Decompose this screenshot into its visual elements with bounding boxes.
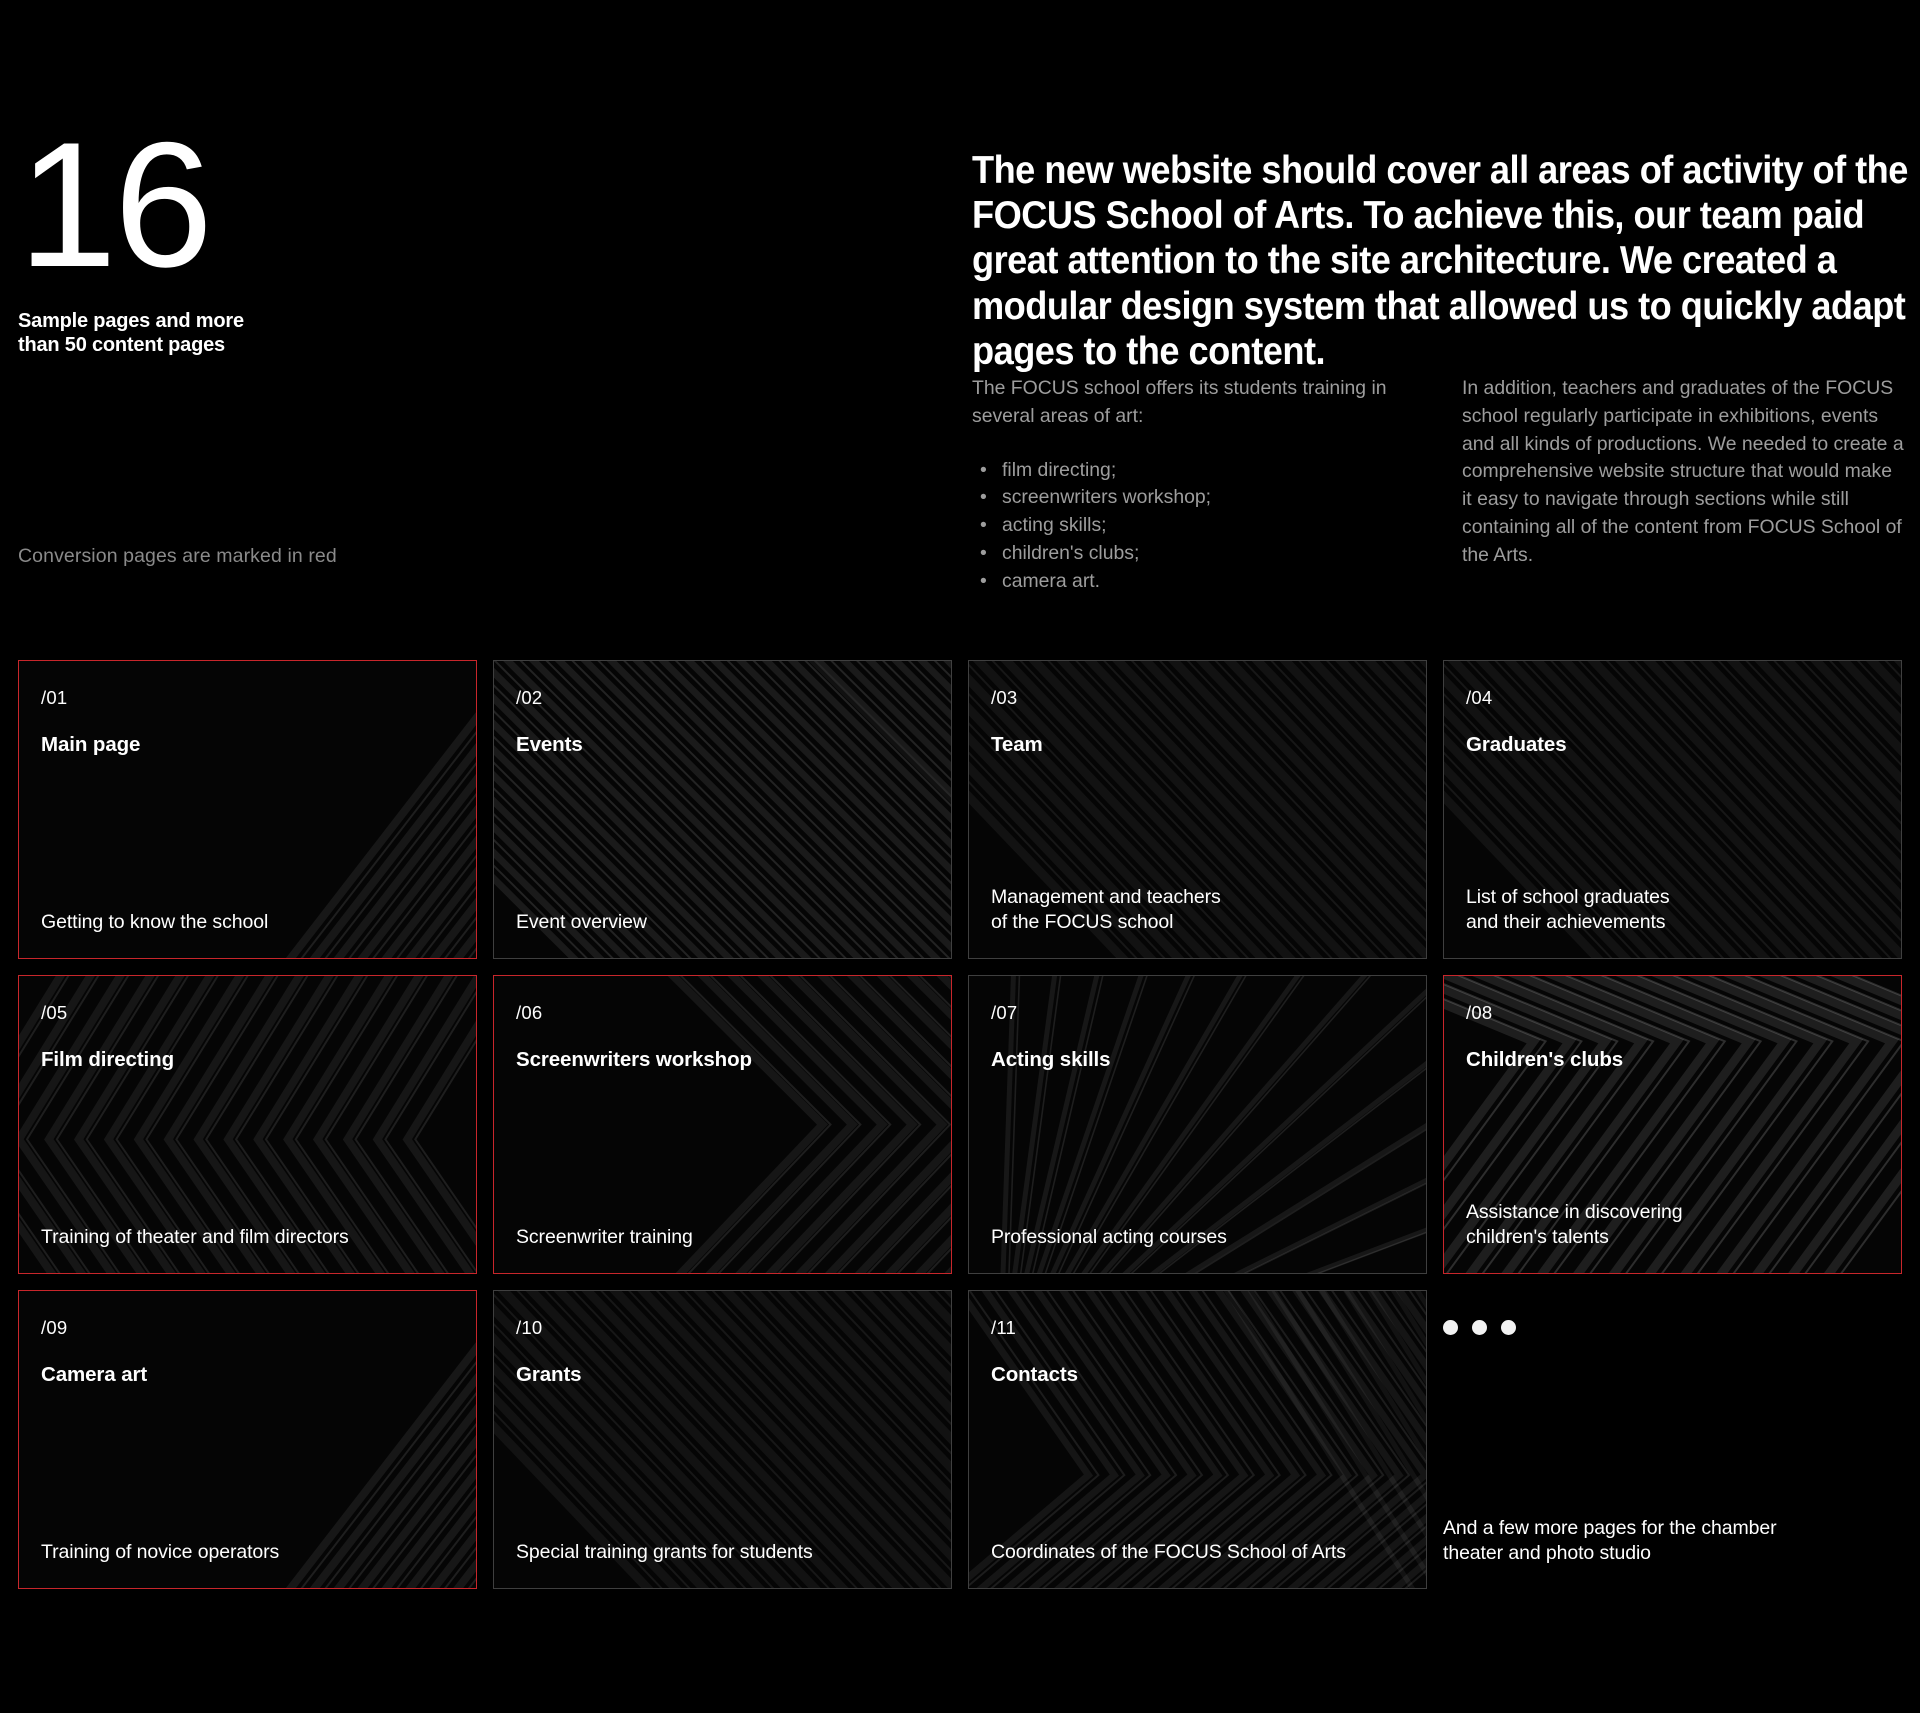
conversion-legend-note: Conversion pages are marked in red (18, 545, 337, 568)
page-card-09[interactable]: /09 Camera art Training of novice operat… (18, 1290, 477, 1589)
card-title: Main page (41, 733, 454, 757)
card-number: /07 (991, 1002, 1404, 1024)
page-card-02[interactable]: /02 Events Event overview (493, 660, 952, 959)
card-description: Coordinates of the FOCUS School of Arts (991, 1540, 1404, 1564)
dot-icon (1472, 1320, 1487, 1335)
card-number: /03 (991, 687, 1404, 709)
card-number: /02 (516, 687, 929, 709)
page-card-01[interactable]: /01 Main page Getting to know the school (18, 660, 477, 959)
presentation-slide: 16 Sample pages and more than 50 content… (0, 0, 1920, 1713)
headline-text: The new website should cover all areas o… (972, 148, 1912, 374)
card-title: Team (991, 733, 1404, 757)
card-title: Camera art (41, 1363, 454, 1387)
dot-icon (1501, 1320, 1516, 1335)
card-description: Professional acting courses (991, 1225, 1404, 1249)
card-description: Management and teachers of the FOCUS sch… (991, 885, 1404, 934)
page-card-10[interactable]: /10 Grants Special training grants for s… (493, 1290, 952, 1589)
column-left: The FOCUS school offers its students tra… (972, 375, 1416, 595)
card-number: /01 (41, 687, 454, 709)
list-item: acting skills; (998, 512, 1416, 540)
card-number: /06 (516, 1002, 929, 1024)
page-count-number: 16 (18, 128, 718, 281)
card-number: /09 (41, 1317, 454, 1339)
card-number: /11 (991, 1317, 1404, 1339)
card-description: Training of theater and film directors (41, 1225, 454, 1249)
card-description: Special training grants for students (516, 1540, 929, 1564)
card-description: List of school graduates and their achie… (1466, 885, 1879, 934)
dot-icon (1443, 1320, 1458, 1335)
column-left-intro: The FOCUS school offers its students tra… (972, 375, 1416, 431)
page-card-06[interactable]: /06 Screenwriters workshop Screenwriter … (493, 975, 952, 1274)
header-right: The new website should cover all areas o… (972, 148, 1902, 374)
page-card-11[interactable]: /11 Contacts Coordinates of the FOCUS Sc… (968, 1290, 1427, 1589)
card-title: Acting skills (991, 1048, 1404, 1072)
card-title: Children's clubs (1466, 1048, 1879, 1072)
page-card-03[interactable]: /03 Team Management and teachers of the … (968, 660, 1427, 959)
card-number: /10 (516, 1317, 929, 1339)
card-number: /08 (1466, 1002, 1879, 1024)
list-item: camera art. (998, 568, 1416, 596)
list-item: children's clubs; (998, 540, 1416, 568)
page-card-07[interactable]: /07 Acting skills Professional acting co… (968, 975, 1427, 1274)
card-description: Event overview (516, 910, 929, 934)
card-description: Screenwriter training (516, 1225, 929, 1249)
slide-header: 16 Sample pages and more than 50 content… (0, 0, 1920, 640)
card-title: Contacts (991, 1363, 1404, 1387)
page-card-grid: /01 Main page Getting to know the school… (18, 660, 1902, 1589)
more-pages-description: And a few more pages for the chamber the… (1443, 1516, 1880, 1565)
more-pages-cell: And a few more pages for the chamber the… (1443, 1290, 1902, 1589)
card-title: Graduates (1466, 733, 1879, 757)
card-description: Assistance in discovering children's tal… (1466, 1200, 1879, 1249)
card-number: /05 (41, 1002, 454, 1024)
page-card-05[interactable]: /05 Film directing Training of theater a… (18, 975, 477, 1274)
column-right-paragraph: In addition, teachers and graduates of t… (1462, 375, 1906, 569)
card-title: Film directing (41, 1048, 454, 1072)
card-title: Grants (516, 1363, 929, 1387)
ellipsis-dots-icon (1443, 1320, 1880, 1335)
page-card-04[interactable]: /04 Graduates List of school graduates a… (1443, 660, 1902, 959)
page-count-subtitle: Sample pages and more than 50 content pa… (18, 309, 718, 358)
list-item: screenwriters workshop; (998, 484, 1416, 512)
column-right: In addition, teachers and graduates of t… (1462, 375, 1906, 595)
card-title: Screenwriters workshop (516, 1048, 929, 1072)
header-left: 16 Sample pages and more than 50 content… (18, 128, 718, 358)
art-areas-list: film directing; screenwriters workshop; … (972, 457, 1416, 596)
header-columns: The FOCUS school offers its students tra… (972, 375, 1907, 595)
card-description: Getting to know the school (41, 910, 454, 934)
card-title: Events (516, 733, 929, 757)
card-description: Training of novice operators (41, 1540, 454, 1564)
page-card-08[interactable]: /08 Children's clubs Assistance in disco… (1443, 975, 1902, 1274)
card-number: /04 (1466, 687, 1879, 709)
list-item: film directing; (998, 457, 1416, 485)
